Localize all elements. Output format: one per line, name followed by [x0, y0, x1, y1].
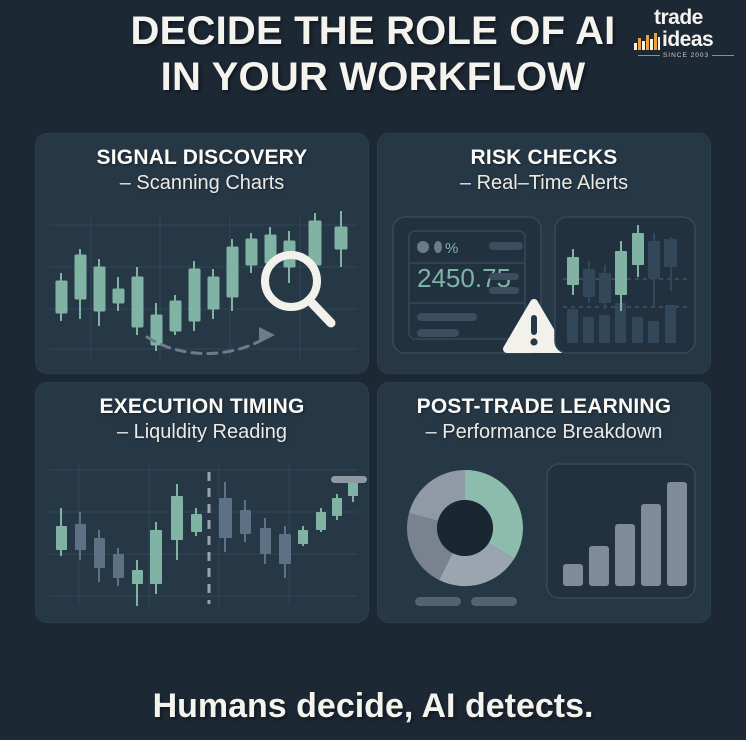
percent-symbol: % — [445, 240, 458, 257]
risk-checks-graphic: % 2450.75 — [377, 211, 711, 363]
bar — [615, 524, 635, 586]
panel-header-signal-discovery: SIGNAL DISCOVERY – Scanning Charts — [35, 133, 369, 196]
panel-subtitle-risk-checks: – Real–Time Alerts — [377, 170, 711, 196]
panel-title-risk-checks: RISK CHECKS — [377, 145, 711, 170]
bar — [589, 546, 609, 586]
header: DECIDE THE ROLE OF AI IN YOUR WORKFLOW t… — [0, 0, 746, 122]
panel-header-risk-checks: RISK CHECKS – Real–Time Alerts — [377, 133, 711, 196]
brand-logo[interactable]: trade ideas SINCE 2003 — [634, 8, 734, 66]
logo-rule-right — [712, 55, 734, 56]
candle — [219, 482, 232, 552]
candle — [132, 560, 143, 606]
candle — [150, 522, 162, 594]
logo-word-trade: trade — [634, 8, 734, 28]
logo-since-text: SINCE 2003 — [663, 52, 709, 59]
dashed-arrow-icon — [147, 327, 275, 354]
candle-series — [56, 478, 358, 606]
panel-signal-discovery[interactable]: SIGNAL DISCOVERY – Scanning Charts — [35, 133, 369, 374]
candlestick-chart-signal-discovery — [35, 211, 369, 363]
candle — [56, 273, 67, 321]
panel-title-post-trade-learning: POST-TRADE LEARNING — [377, 394, 711, 419]
candle-series — [56, 211, 347, 351]
candle — [335, 211, 347, 267]
logo-rule-left — [638, 55, 660, 56]
footer-tagline: Humans decide, AI detects. — [153, 687, 594, 725]
panel-grid: SIGNAL DISCOVERY – Scanning Charts — [35, 133, 711, 623]
candle — [170, 295, 181, 335]
candlestick-chart-execution-timing — [35, 460, 369, 612]
panel-subtitle-execution-timing: – Liquldity Reading — [35, 419, 369, 445]
candle — [298, 526, 308, 546]
magnifier-icon — [265, 255, 331, 323]
donut-chart-icon — [407, 470, 523, 586]
panel-title-execution-timing: EXECUTION TIMING — [35, 394, 369, 419]
panel-header-execution-timing: EXECUTION TIMING – Liquldity Reading — [35, 382, 369, 445]
panel-body-post-trade-learning — [377, 460, 711, 623]
panel-body-signal-discovery — [35, 211, 369, 374]
panel-header-post-trade-learning: POST-TRADE LEARNING – Performance Breakd… — [377, 382, 711, 445]
candle — [113, 277, 124, 311]
candle — [332, 494, 342, 520]
candle — [94, 259, 105, 326]
post-trade-learning-graphic — [377, 460, 711, 612]
bar — [641, 504, 661, 586]
panel-subtitle-post-trade-learning: – Performance Breakdown — [377, 419, 711, 445]
candle — [75, 512, 86, 560]
logo-word-ideas: ideas — [662, 29, 713, 50]
candle — [240, 500, 251, 542]
panel-post-trade-learning[interactable]: POST-TRADE LEARNING – Performance Breakd… — [377, 382, 711, 623]
bar — [667, 482, 687, 586]
panel-body-execution-timing — [35, 460, 369, 623]
candle — [227, 239, 238, 311]
candle — [208, 269, 219, 319]
chart-gridlines — [49, 464, 357, 606]
candle — [260, 518, 271, 564]
candle — [171, 484, 183, 560]
level-marker-icon — [331, 476, 367, 483]
candlestick-chart-risk-checks — [555, 217, 695, 353]
candle — [132, 267, 143, 335]
candle — [94, 530, 105, 582]
trade-ideas-bar-logo-icon — [634, 32, 660, 50]
panel-title-signal-discovery: SIGNAL DISCOVERY — [35, 145, 369, 170]
logo-tagline: SINCE 2003 — [634, 52, 734, 59]
footer: Humans decide, AI detects. — [0, 687, 746, 726]
candle — [56, 508, 67, 556]
legend-swatch-left — [415, 597, 461, 606]
legend-swatch-right — [471, 597, 517, 606]
bar-chart-icon — [547, 464, 695, 598]
panel-subtitle-signal-discovery: – Scanning Charts — [35, 170, 369, 196]
panel-risk-checks[interactable]: RISK CHECKS – Real–Time Alerts % 2450.75 — [377, 133, 711, 374]
panel-execution-timing[interactable]: EXECUTION TIMING – Liquldity Reading — [35, 382, 369, 623]
candle — [189, 261, 200, 331]
panel-body-risk-checks: % 2450.75 — [377, 211, 711, 374]
bar — [563, 564, 583, 586]
